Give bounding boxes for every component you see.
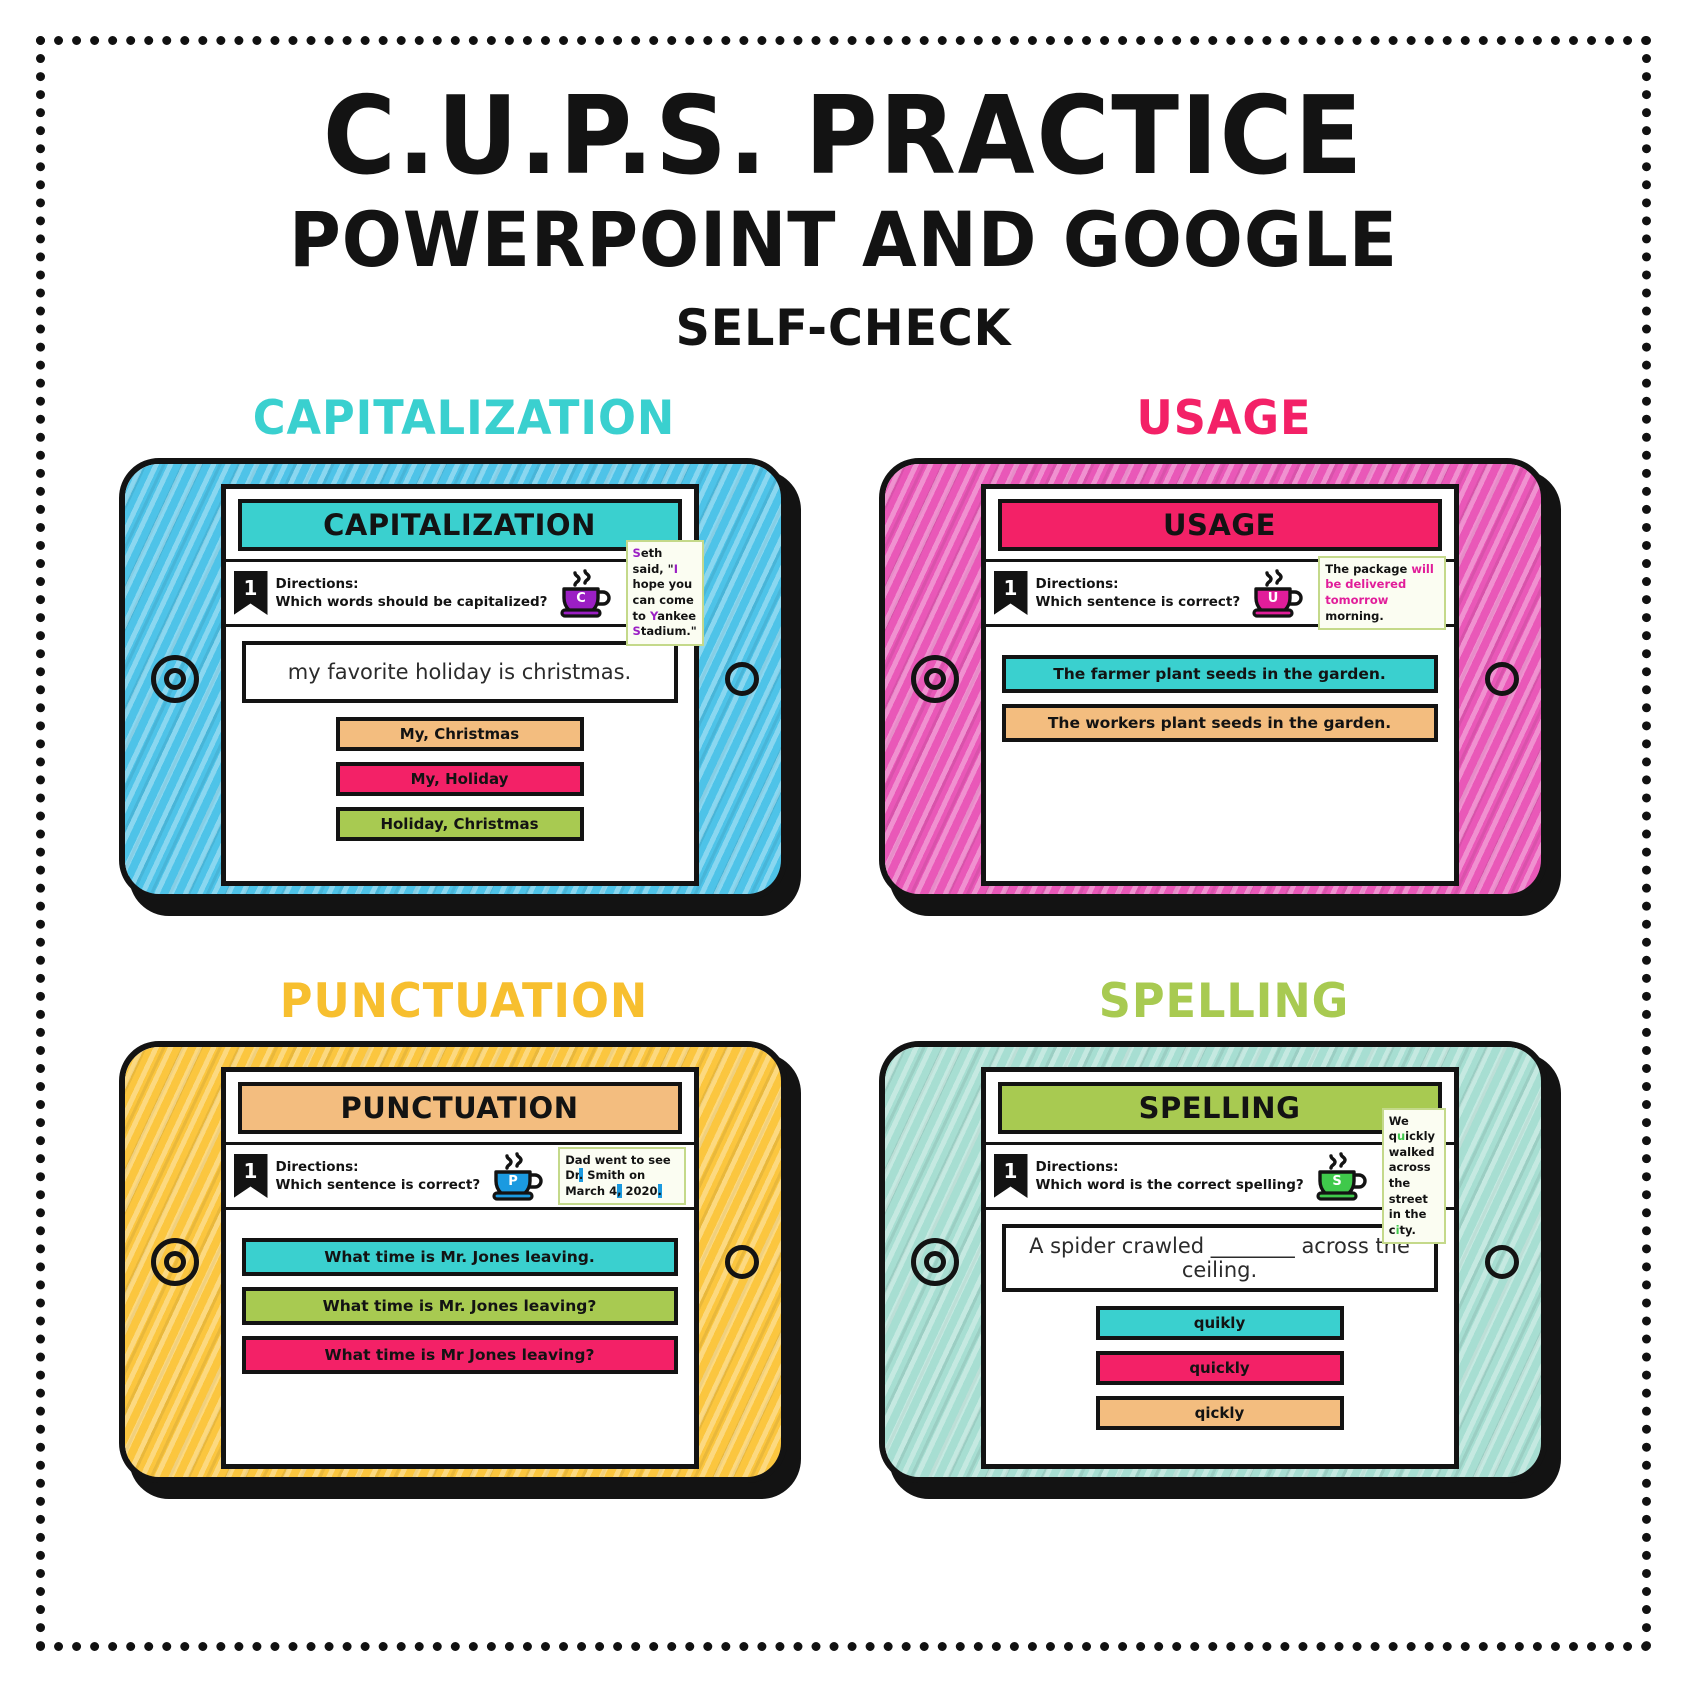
tablet-screen: CAPITALIZATION1Directions:Which words sh… (221, 484, 699, 886)
answer-choices: My, ChristmasMy, HolidayHoliday, Christm… (242, 717, 678, 841)
svg-text:C: C (576, 591, 586, 606)
screen-header: CAPITALIZATION (226, 489, 694, 559)
svg-text:U: U (1268, 591, 1279, 606)
tablet-home-button[interactable] (151, 1238, 199, 1286)
cup-icon-p: P (490, 1151, 546, 1201)
cup-icon-c: C (558, 568, 614, 618)
directions-bar: 1Directions:Which words should be capita… (226, 559, 694, 627)
example-sentence-box: Dad went to see Dr. Smith on March 4, 20… (558, 1147, 685, 1206)
slide-title-usage: USAGE (998, 499, 1442, 551)
screen-spacer (242, 841, 678, 871)
page-title: C.U.P.S. PRACTICE (67, 82, 1619, 192)
tablet-body: USAGE1Directions:Which sentence is corre… (879, 458, 1547, 900)
coffee-cup-icon: S (1314, 1151, 1370, 1201)
answer-choice-1[interactable]: quikly (1096, 1306, 1344, 1340)
card-punctuation: PUNCTUATIONPUNCTUATION1Directions:Which … (114, 978, 814, 1501)
tablet-camera-icon (725, 1245, 759, 1279)
screen-body: A spider crawled ________ across the cei… (986, 1210, 1454, 1464)
screen-header: USAGE (986, 489, 1454, 559)
answer-choice-3[interactable]: Holiday, Christmas (336, 807, 584, 841)
question-number-flag: 1 (994, 1154, 1028, 1198)
answer-choices: The farmer plant seeds in the garden.The… (1002, 655, 1438, 742)
category-label-spelling: SPELLING (891, 978, 1556, 1025)
answer-choice-2[interactable]: The workers plant seeds in the garden. (1002, 704, 1438, 742)
cup-icon-u: U (1250, 568, 1306, 618)
page-tagline: SELF-CHECK (42, 298, 1645, 358)
directions-text: Directions:Which sentence is correct? (1036, 575, 1241, 611)
svg-text:S: S (1332, 1174, 1341, 1189)
tablet-punctuation: PUNCTUATION1Directions:Which sentence is… (119, 1041, 809, 1501)
page-subtitle: POWERPOINT AND GOOGLE (59, 196, 1628, 283)
answer-choice-2[interactable]: quickly (1096, 1351, 1344, 1385)
screen-spacer (1002, 742, 1438, 871)
screen-spacer (242, 1374, 678, 1454)
tablet-spelling: SPELLING1Directions:Which word is the co… (879, 1041, 1569, 1501)
screen-header: PUNCTUATION (226, 1072, 694, 1142)
tablet-home-button[interactable] (151, 655, 199, 703)
example-sentence-box: We quickly walked across the street in t… (1382, 1108, 1446, 1244)
tablet-camera-icon (725, 662, 759, 696)
question-prompt: A spider crawled ________ across the cei… (1002, 1224, 1438, 1292)
category-label-capitalization: CAPITALIZATION (131, 395, 796, 442)
directions-bar: 1Directions:Which word is the correct sp… (986, 1142, 1454, 1210)
screen-body: What time is Mr. Jones leaving.What time… (226, 1210, 694, 1464)
tablet-home-button[interactable] (911, 655, 959, 703)
directions-text: Directions:Which sentence is correct? (276, 1158, 481, 1194)
example-sentence-box: Seth said, "I hope you can come to Yanke… (626, 540, 704, 645)
tablet-camera-icon (1485, 1245, 1519, 1279)
slide-title-spelling: SPELLING (998, 1082, 1442, 1134)
svg-text:P: P (508, 1174, 518, 1189)
answer-choice-1[interactable]: What time is Mr. Jones leaving. (242, 1238, 678, 1276)
coffee-cup-icon: C (558, 568, 614, 618)
cup-icon-s: S (1314, 1151, 1370, 1201)
question-number-flag: 1 (994, 571, 1028, 615)
slide-title-capitalization: CAPITALIZATION (238, 499, 682, 551)
tablet-capitalization: CAPITALIZATION1Directions:Which words sh… (119, 458, 809, 918)
screen-body: my favorite holiday is christmas.My, Chr… (226, 627, 694, 881)
answer-choices: quiklyquicklyqickly (1002, 1306, 1438, 1430)
directions-bar: 1Directions:Which sentence is correct?UT… (986, 559, 1454, 627)
directions-text: Directions:Which words should be capital… (276, 575, 548, 611)
card-row: CAPITALIZATIONCAPITALIZATION1Directions:… (0, 395, 1687, 918)
tablet-card-grid: CAPITALIZATIONCAPITALIZATION1Directions:… (0, 395, 1687, 1501)
card-usage: USAGEUSAGE1Directions:Which sentence is … (874, 395, 1574, 918)
directions-bar: 1Directions:Which sentence is correct?PD… (226, 1142, 694, 1210)
tablet-home-button[interactable] (911, 1238, 959, 1286)
poster-canvas: C.U.P.S. PRACTICE POWERPOINT AND GOOGLE … (0, 0, 1687, 1687)
question-number-flag: 1 (234, 571, 268, 615)
tablet-screen: PUNCTUATION1Directions:Which sentence is… (221, 1067, 699, 1469)
card-row: PUNCTUATIONPUNCTUATION1Directions:Which … (0, 978, 1687, 1501)
tablet-screen: USAGE1Directions:Which sentence is corre… (981, 484, 1459, 886)
tablet-camera-icon (1485, 662, 1519, 696)
answer-choices: What time is Mr. Jones leaving.What time… (242, 1238, 678, 1374)
answer-choice-3[interactable]: qickly (1096, 1396, 1344, 1430)
tablet-body: PUNCTUATION1Directions:Which sentence is… (119, 1041, 787, 1483)
category-label-punctuation: PUNCTUATION (131, 978, 796, 1025)
tablet-body: SPELLING1Directions:Which word is the co… (879, 1041, 1547, 1483)
example-sentence-box: The package will be delivered tomorrow m… (1318, 556, 1445, 630)
slide-title-punctuation: PUNCTUATION (238, 1082, 682, 1134)
question-number-flag: 1 (234, 1154, 268, 1198)
card-spelling: SPELLINGSPELLING1Directions:Which word i… (874, 978, 1574, 1501)
answer-choice-2[interactable]: What time is Mr. Jones leaving? (242, 1287, 678, 1325)
card-capitalization: CAPITALIZATIONCAPITALIZATION1Directions:… (114, 395, 814, 918)
answer-choice-1[interactable]: The farmer plant seeds in the garden. (1002, 655, 1438, 693)
coffee-cup-icon: U (1250, 568, 1306, 618)
category-label-usage: USAGE (891, 395, 1556, 442)
answer-choice-3[interactable]: What time is Mr Jones leaving? (242, 1336, 678, 1374)
screen-body: The farmer plant seeds in the garden.The… (986, 627, 1454, 881)
answer-choice-2[interactable]: My, Holiday (336, 762, 584, 796)
answer-choice-1[interactable]: My, Christmas (336, 717, 584, 751)
tablet-screen: SPELLING1Directions:Which word is the co… (981, 1067, 1459, 1469)
tablet-usage: USAGE1Directions:Which sentence is corre… (879, 458, 1569, 918)
tablet-body: CAPITALIZATION1Directions:Which words sh… (119, 458, 787, 900)
question-prompt: my favorite holiday is christmas. (242, 641, 678, 703)
poster-title-block: C.U.P.S. PRACTICE POWERPOINT AND GOOGLE … (0, 82, 1687, 358)
screen-spacer (1002, 1430, 1438, 1454)
directions-text: Directions:Which word is the correct spe… (1036, 1158, 1304, 1194)
coffee-cup-icon: P (490, 1151, 546, 1201)
